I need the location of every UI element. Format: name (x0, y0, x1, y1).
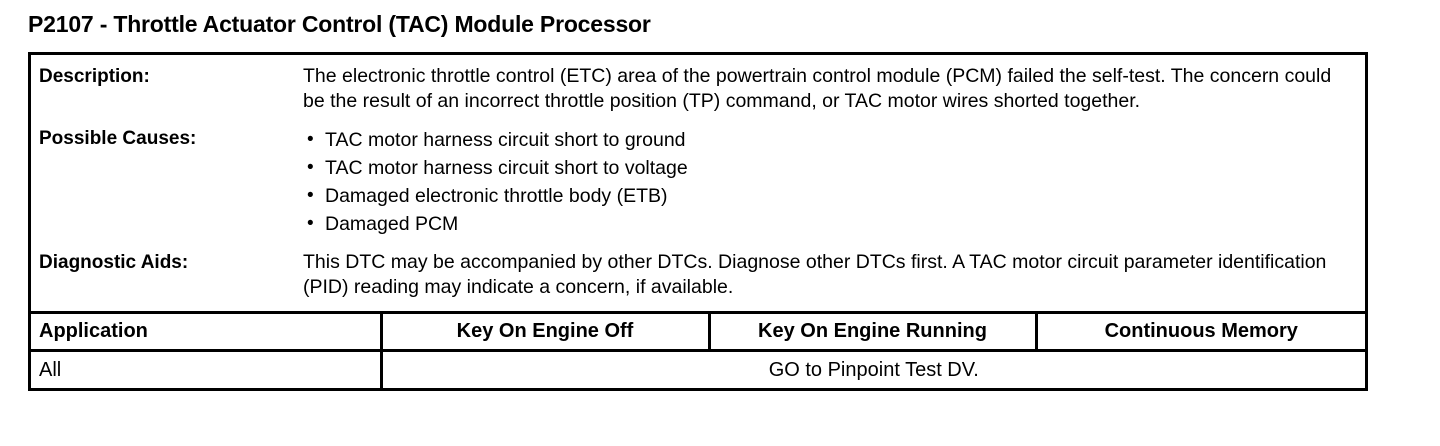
possible-causes-label: Possible Causes: (31, 122, 303, 151)
diagnostic-aids-label: Diagnostic Aids: (31, 246, 303, 275)
bullet-icon: • (307, 126, 314, 154)
page-title: P2107 - Throttle Actuator Control (TAC) … (28, 10, 651, 38)
column-header-key-on-engine-running: Key On Engine Running (709, 314, 1036, 351)
column-header-application: Application (31, 314, 381, 351)
description-body: The electronic throttle control (ETC) ar… (303, 60, 1365, 118)
description-text: The electronic throttle control (ETC) ar… (303, 64, 1351, 114)
diagnostic-aids-row: Diagnostic Aids: This DTC may be accompa… (31, 242, 1365, 308)
list-item-label: TAC motor harness circuit short to groun… (325, 129, 686, 151)
bullet-icon: • (307, 182, 314, 210)
possible-causes-body: • TAC motor harness circuit short to gro… (303, 122, 1365, 242)
table-header-row: Application Key On Engine Off Key On Eng… (31, 314, 1365, 351)
possible-causes-list: • TAC motor harness circuit short to gro… (303, 126, 1351, 238)
list-item: • Damaged PCM (303, 210, 1351, 238)
cell-application: All (31, 351, 381, 389)
diagnostic-aids-text: This DTC may be accompanied by other DTC… (303, 250, 1351, 300)
column-header-continuous-memory: Continuous Memory (1036, 314, 1365, 351)
table-row: All GO to Pinpoint Test DV. (31, 351, 1365, 389)
description-row: Description: The electronic throttle con… (31, 55, 1365, 118)
dtc-detail-table: Description: The electronic throttle con… (28, 52, 1368, 391)
application-table: Application Key On Engine Off Key On Eng… (31, 314, 1365, 388)
bullet-icon: • (307, 154, 314, 182)
column-header-key-on-engine-off: Key On Engine Off (381, 314, 709, 351)
list-item: • TAC motor harness circuit short to gro… (303, 126, 1351, 154)
list-item: • Damaged electronic throttle body (ETB) (303, 182, 1351, 210)
list-item: • TAC motor harness circuit short to vol… (303, 154, 1351, 182)
list-item-label: Damaged PCM (325, 213, 458, 235)
list-item-label: Damaged electronic throttle body (ETB) (325, 185, 668, 207)
list-item-label: TAC motor harness circuit short to volta… (325, 157, 688, 179)
cell-test-result: GO to Pinpoint Test DV. (381, 351, 1365, 389)
dtc-page: P2107 - Throttle Actuator Control (TAC) … (0, 0, 1440, 446)
bullet-icon: • (307, 210, 314, 238)
description-label: Description: (31, 60, 303, 89)
possible-causes-row: Possible Causes: • TAC motor harness cir… (31, 118, 1365, 242)
diagnostic-aids-body: This DTC may be accompanied by other DTC… (303, 246, 1365, 304)
